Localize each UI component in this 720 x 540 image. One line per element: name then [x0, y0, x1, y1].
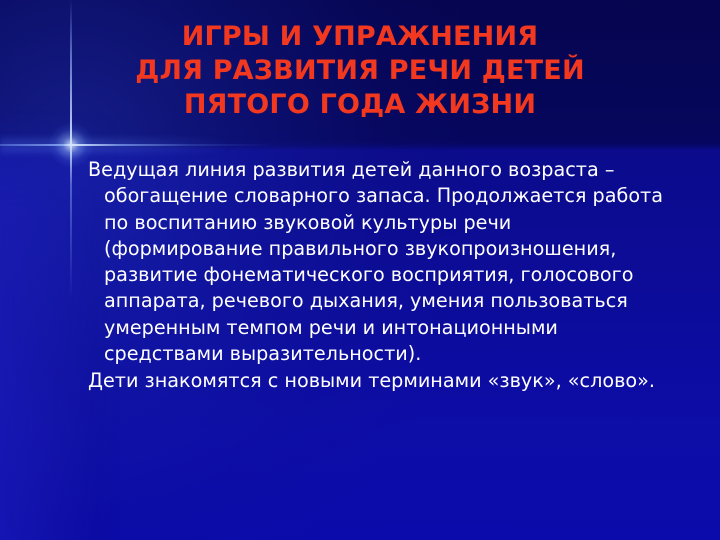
slide-title-line-1: ИГРЫ И УПРАЖНЕНИЯ — [60, 20, 660, 54]
slide-content: ИГРЫ И УПРАЖНЕНИЯ ДЛЯ РАЗВИТИЯ РЕЧИ ДЕТЕ… — [0, 0, 720, 540]
slide-title-line-2: ДЛЯ РАЗВИТИЯ РЕЧИ ДЕТЕЙ — [60, 54, 660, 88]
body-paragraph-1: Ведущая линия развития детей данного воз… — [88, 157, 673, 367]
slide-title-line-3: ПЯТОГО ГОДА ЖИЗНИ — [60, 88, 660, 122]
body-paragraph-2: Дети знакомятся с новыми терминами «звук… — [88, 368, 673, 394]
slide-title: ИГРЫ И УПРАЖНЕНИЯ ДЛЯ РАЗВИТИЯ РЕЧИ ДЕТЕ… — [60, 20, 660, 122]
slide-body: Ведущая линия развития детей данного воз… — [88, 157, 673, 396]
presentation-slide: ИГРЫ И УПРАЖНЕНИЯ ДЛЯ РАЗВИТИЯ РЕЧИ ДЕТЕ… — [0, 0, 720, 540]
